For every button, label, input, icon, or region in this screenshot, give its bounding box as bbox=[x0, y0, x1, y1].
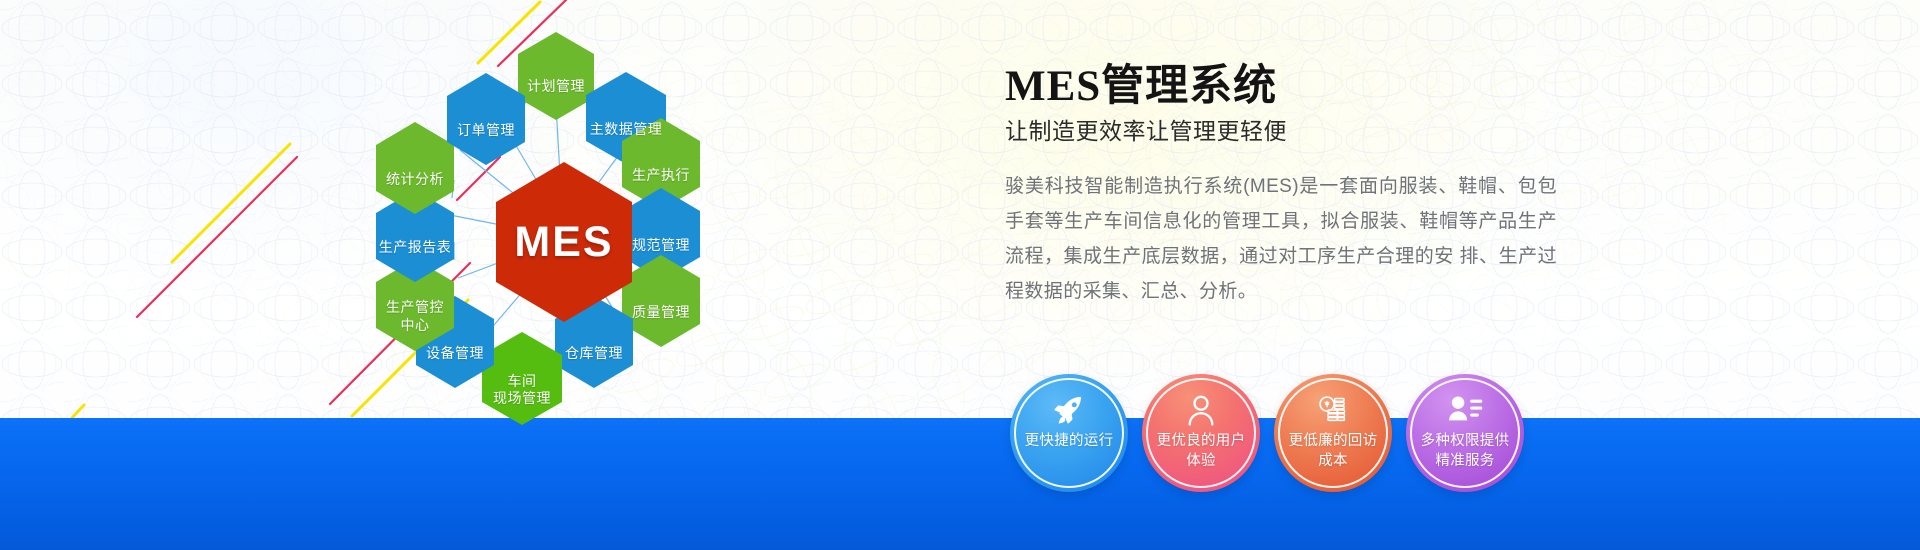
badge-label-permissions: 多种权限提供 精准服务 bbox=[1413, 432, 1517, 471]
user-icon bbox=[1183, 390, 1219, 430]
mes-hexagon-diagram: 计划管理 主数据管理 生产执行 规范管理 质量管理 仓库管理 车间 现场管理 设… bbox=[330, 10, 800, 440]
banner-text-block: MES管理系统 让制造更效率让管理更轻便 骏美科技智能制造执行系统(MES)是一… bbox=[1005, 62, 1605, 309]
page-description: 骏美科技智能制造执行系统(MES)是一套面向服装、鞋帽、包包手套等生产车间信息化… bbox=[1005, 169, 1557, 310]
mes-promo-banner: 计划管理 主数据管理 生产执行 规范管理 质量管理 仓库管理 车间 现场管理 设… bbox=[0, 0, 1920, 550]
page-subtitle: 让制造更效率让管理更轻便 bbox=[1005, 117, 1605, 147]
badge-label-speed: 更快捷的运行 bbox=[1017, 432, 1121, 452]
page-title: MES管理系统 bbox=[1005, 62, 1605, 111]
rocket-icon bbox=[1050, 390, 1088, 430]
user-list-icon bbox=[1446, 390, 1484, 430]
coins-icon bbox=[1316, 390, 1350, 430]
badge-label-experience: 更优良的用户 体验 bbox=[1149, 432, 1253, 471]
feature-badge-speed[interactable]: 更快捷的运行 bbox=[1010, 374, 1128, 492]
bottom-blue-band bbox=[0, 418, 1920, 550]
feature-badge-cost[interactable]: 更低廉的回访 成本 bbox=[1274, 374, 1392, 492]
feature-badge-list: 更快捷的运行 更优良的用户 体验 bbox=[1010, 374, 1524, 492]
feature-badge-permissions[interactable]: 多种权限提供 精准服务 bbox=[1406, 374, 1524, 492]
badge-label-cost: 更低廉的回访 成本 bbox=[1281, 432, 1385, 471]
feature-badge-experience[interactable]: 更优良的用户 体验 bbox=[1142, 374, 1260, 492]
